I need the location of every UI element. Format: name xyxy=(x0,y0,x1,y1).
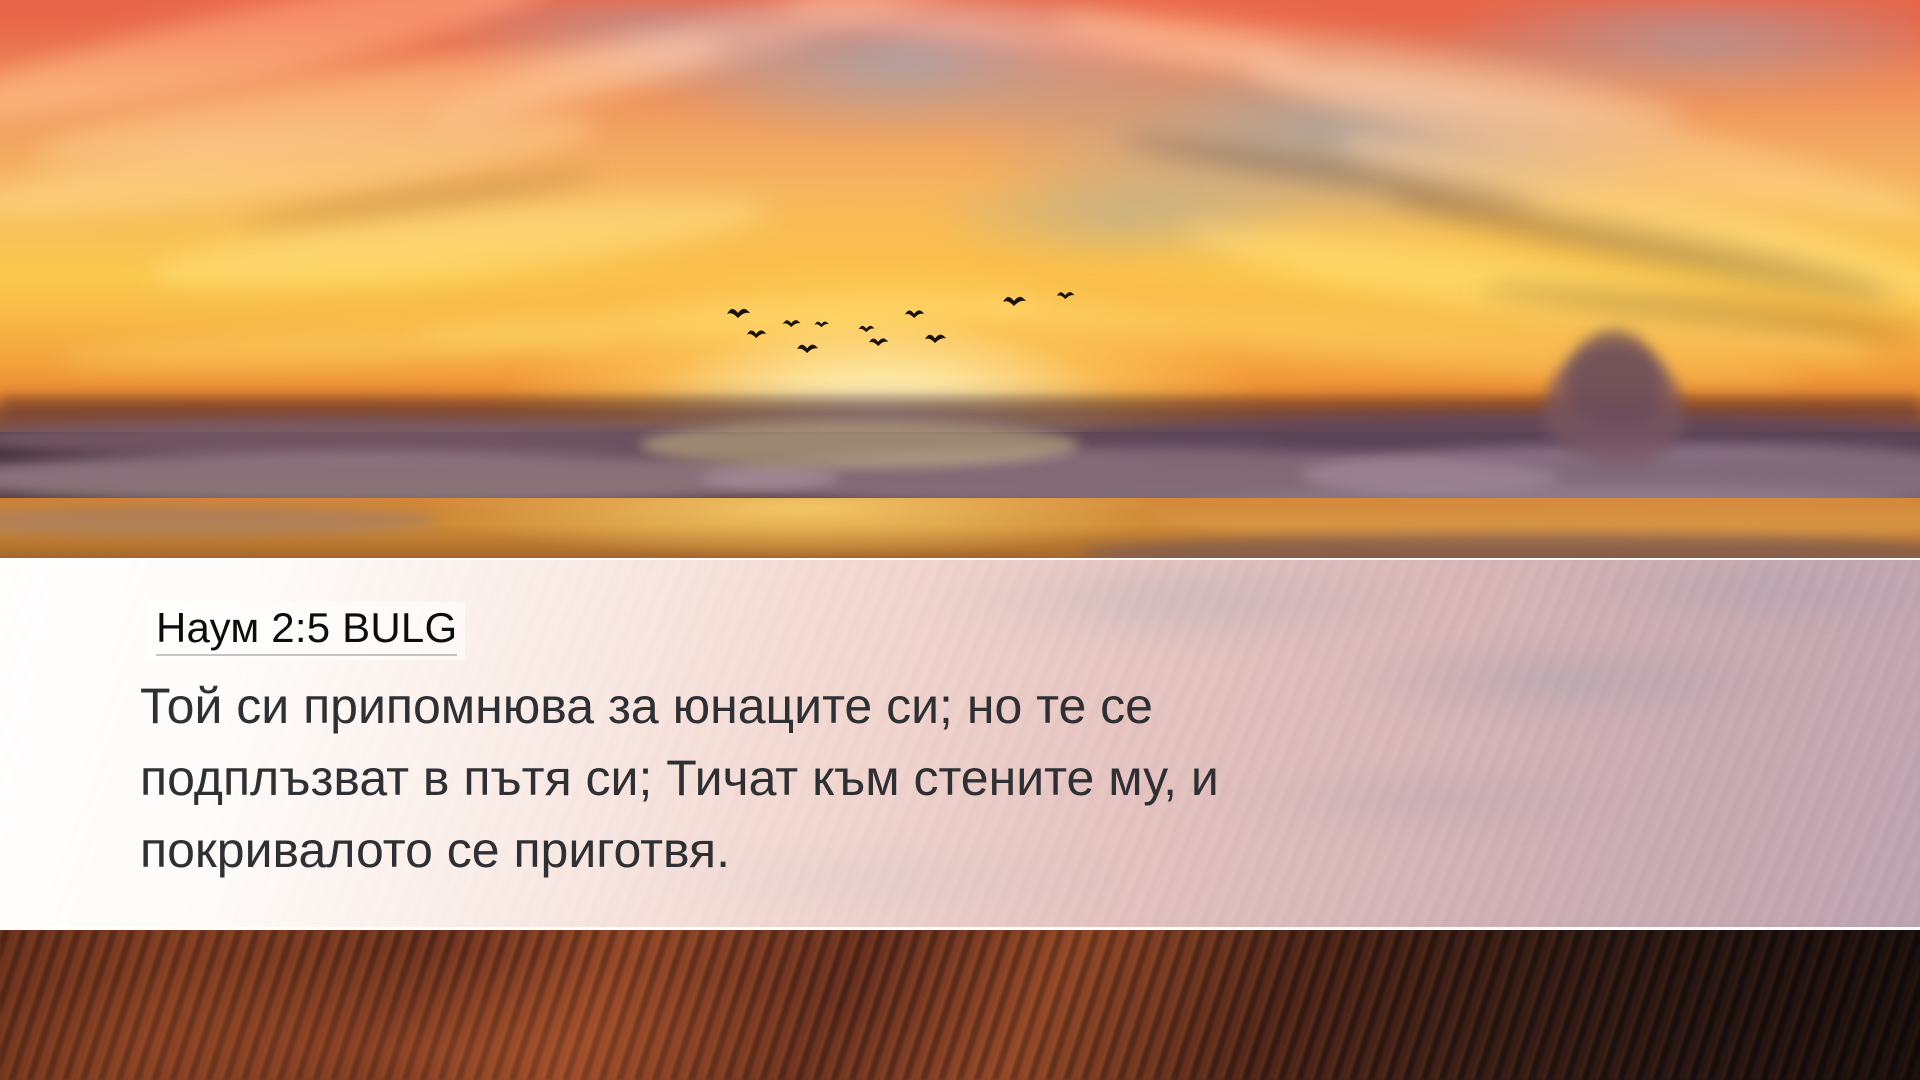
verse-text-block: Той си припомнюва за юнаците си; но те с… xyxy=(140,670,1700,886)
verse-line: подплъзват в пътя си; Тичат към стените … xyxy=(140,742,1700,814)
verse-overlay-panel: Наум 2:5 BULG Той си припомнюва за юнаци… xyxy=(0,558,1920,930)
bird-icon xyxy=(924,330,948,345)
bird-icon xyxy=(814,318,830,329)
verse-line: покривалото се приготвя. xyxy=(140,814,1700,886)
verse-image-canvas: Наум 2:5 BULG Той си припомнюва за юнаци… xyxy=(0,0,1920,1080)
bird-icon xyxy=(726,304,752,320)
bird-icon xyxy=(858,322,876,334)
verse-reference-highlight: Наум 2:5 BULG xyxy=(148,602,465,660)
bird-icon xyxy=(796,340,820,355)
verse-line: Той си припомнюва за юнаците си; но те с… xyxy=(140,670,1700,742)
verse-reference: Наум 2:5 BULG xyxy=(156,604,457,656)
foreground-sand-vignette xyxy=(0,930,1920,1080)
bird-icon xyxy=(1056,288,1076,301)
sunlit-foam xyxy=(640,422,1080,468)
bird-icon xyxy=(782,316,802,329)
bird-icon xyxy=(904,306,926,320)
bird-icon xyxy=(868,334,890,348)
bird-icon xyxy=(1002,292,1028,308)
bird-icon xyxy=(746,326,768,340)
